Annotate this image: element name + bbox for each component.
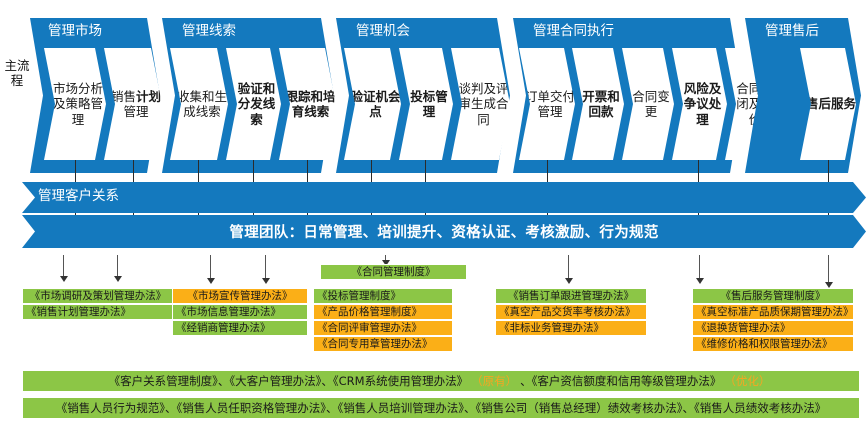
process-group-2-title: 管理机会	[356, 22, 410, 40]
connector-arrow-icon	[696, 278, 704, 284]
team-band[interactable]: 管理团队：日常管理、培训提升、资格认证、考核激励、行为规范	[22, 215, 866, 248]
doc-item[interactable]: 《销售订单跟进管理办法》	[495, 288, 647, 304]
main-process-band: 主流程 管理市场 市场分析及策略管理 销售计划管理 管理线索 收集和生成线索 验…	[0, 0, 866, 185]
doc-item[interactable]: 《投标管理制度》	[313, 288, 453, 304]
doc-item[interactable]: 《真空标准产品质保期管理办法》	[692, 304, 854, 320]
team-band-label: 管理团队：日常管理、培训提升、资格认证、考核激励、行为规范	[229, 221, 658, 242]
crm-band-label: 管理客户关系	[38, 187, 119, 206]
connector-arrow-icon	[60, 276, 68, 282]
doc-item[interactable]: 《非标业务管理办法》	[495, 320, 647, 336]
doc-item[interactable]: 《市场调研及策划管理办法》	[22, 288, 174, 304]
doc-item[interactable]: 《产品价格管理制度》	[313, 304, 453, 320]
doc-item[interactable]: 《合同管理制度》	[320, 264, 467, 280]
doc-item-label: 《销售计划管理办法》	[26, 305, 131, 319]
process-group-0-title: 管理市场	[48, 22, 102, 40]
doc-item-label: 《维修价格和权限管理办法》	[696, 337, 833, 351]
connector-line	[117, 255, 118, 277]
connector-line	[828, 255, 829, 283]
doc-item-label: 《经销商管理办法》	[176, 321, 271, 335]
doc-item[interactable]: 《退换货管理办法》	[692, 320, 854, 336]
bottom-row-segment: 《销售人员行为规范》、《销售人员任职资格管理办法》、《销售人员培训管理办法》、《…	[56, 400, 827, 416]
doc-item-label: 《合同专用章管理办法》	[317, 337, 433, 351]
doc-item[interactable]: 《销售计划管理办法》	[22, 304, 174, 320]
connector-arrow-icon	[207, 278, 215, 284]
process-group-4-title: 管理售后	[765, 22, 819, 40]
doc-item-label: 《售后服务管理制度》	[721, 289, 826, 303]
connector-arrow-icon	[262, 278, 270, 284]
doc-item[interactable]: 《售后服务管理制度》	[692, 288, 854, 304]
doc-item[interactable]: 《真空产品交货率考核办法》	[495, 304, 647, 320]
swimlane-label: 主流程	[4, 58, 30, 88]
bottom-row-note: （原有）	[468, 373, 520, 389]
diagram-root: 主流程 管理市场 市场分析及策略管理 销售计划管理 管理线索 收集和生成线索 验…	[0, 0, 866, 443]
doc-item[interactable]: 《维修价格和权限管理办法》	[692, 336, 854, 352]
process-group-1-title: 管理线索	[182, 22, 236, 40]
doc-item-label: 《退换货管理办法》	[696, 321, 791, 335]
connector-line	[265, 255, 266, 279]
bottom-row-note: （优化）	[721, 373, 773, 389]
process-group-3-title: 管理合同执行	[533, 22, 614, 40]
doc-item-label: 《市场宣传管理办法》	[188, 289, 293, 303]
doc-item-label: 《产品价格管理制度》	[317, 305, 422, 319]
doc-item-label: 《合同管理制度》	[352, 265, 436, 279]
doc-item[interactable]: 《市场宣传管理办法》	[172, 288, 308, 304]
doc-item-label: 《真空产品交货率考核办法》	[499, 305, 636, 319]
connector-line	[210, 255, 211, 279]
connector-line	[699, 255, 700, 279]
doc-item-label: 《非标业务管理办法》	[499, 321, 604, 335]
bottom-row-segment: 、《客户资信额度和信用等级管理办法》	[520, 373, 721, 389]
connector-arrow-icon	[565, 278, 573, 284]
connector-line	[63, 255, 64, 277]
doc-item[interactable]: 《合同专用章管理办法》	[313, 336, 453, 352]
connector-line	[568, 255, 569, 279]
doc-item-label: 《销售订单跟进管理办法》	[508, 289, 634, 303]
bottom-row-crm-docs[interactable]: 《客户关系管理制度》、《大客户管理办法》、《CRM系统使用管理办法》 （原有） …	[22, 370, 860, 392]
doc-item-label: 《投标管理制度》	[317, 289, 401, 303]
doc-item-label: 《真空标准产品质保期管理办法》	[696, 305, 854, 319]
doc-item[interactable]: 《经销商管理办法》	[172, 320, 308, 336]
doc-item[interactable]: 《合同评审管理办法》	[313, 320, 453, 336]
connector-arrow-icon	[114, 276, 122, 282]
bottom-row-segment: 《客户关系管理制度》、《大客户管理办法》、《CRM系统使用管理办法》	[109, 373, 468, 389]
bottom-row-team-docs[interactable]: 《销售人员行为规范》、《销售人员任职资格管理办法》、《销售人员培训管理办法》、《…	[22, 397, 860, 419]
doc-item[interactable]: 《市场信息管理办法》	[172, 304, 308, 320]
doc-item-label: 《合同评审管理办法》	[317, 321, 422, 335]
doc-item-label: 《市场信息管理办法》	[176, 305, 281, 319]
crm-band[interactable]: 管理客户关系	[22, 182, 866, 213]
doc-item-label: 《市场调研及策划管理办法》	[30, 289, 167, 303]
